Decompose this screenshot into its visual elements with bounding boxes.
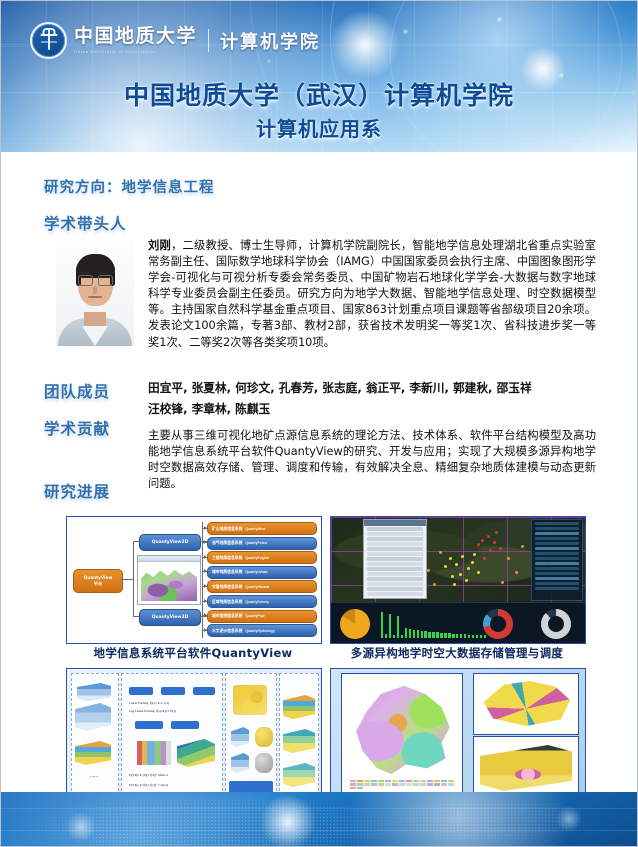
- legend-swatch: [357, 780, 363, 782]
- legend-swatch: [427, 780, 433, 782]
- map-marker: [495, 531, 498, 534]
- method-chip: [161, 687, 185, 695]
- bar: [480, 635, 482, 638]
- legend-swatch: [448, 783, 454, 785]
- diagram-root-node: QuantyView 平台: [73, 569, 123, 593]
- legend-swatch: [350, 787, 356, 789]
- bar: [428, 632, 430, 638]
- research-direction-label: 研究方向：地学信息工程: [44, 176, 215, 197]
- attr-row: [535, 522, 579, 525]
- header-dot: [498, 18, 501, 21]
- legend-swatch: [350, 783, 356, 785]
- bar: [436, 632, 438, 638]
- diagram-product-item: 区域地质信息系统QuantySurvey: [207, 595, 317, 608]
- poster-title: 中国地质大学（武汉）计算机学院: [0, 76, 638, 112]
- university-crest-icon: [30, 22, 67, 59]
- product-name-en: QuantyPipe: [245, 614, 264, 618]
- legend-swatch: [448, 780, 454, 782]
- leader-name: 刘刚: [148, 239, 171, 252]
- bar: [464, 634, 466, 638]
- map-marker: [465, 579, 468, 582]
- diagram-root-line2: 平台: [94, 581, 102, 587]
- figure-multiscale-glass-earth: [330, 668, 586, 805]
- legend-swatch: [434, 780, 440, 782]
- poster-subtitle: 计算机应用系: [0, 113, 638, 142]
- map-marker: [521, 545, 524, 548]
- university-logo: 中国地质大学 China University of Geosciences 计…: [30, 22, 320, 59]
- legend-swatch: [350, 780, 356, 782]
- diagram-product-item: 工程地质信息系统QuantyEngine: [207, 551, 317, 564]
- province-geological-map: [341, 673, 463, 801]
- fault-fan-model: [480, 680, 572, 728]
- attr-row: [535, 572, 579, 575]
- product-name-cn: 区域地质信息系统: [212, 599, 242, 605]
- header-dot: [404, 30, 407, 33]
- bar: [393, 635, 395, 638]
- panel-row: [367, 577, 423, 581]
- unit-model-right: [255, 753, 273, 773]
- bar: [440, 633, 442, 638]
- logo-divider: [208, 29, 209, 52]
- legend-swatch: [399, 783, 405, 785]
- map-marker: [459, 573, 462, 576]
- legend-swatch: [357, 787, 363, 789]
- gis-dashboard: [331, 517, 585, 643]
- panel-row: [367, 557, 423, 561]
- diagram-branch-2d: QuantyView2D: [139, 534, 201, 551]
- legend-swatch: [392, 783, 398, 785]
- product-name-cn: 工程地质信息系统: [212, 555, 242, 561]
- footer-glow: [66, 812, 96, 842]
- leader-biography: 刘刚，二级教授、博士生导师，计算机学院副院长，智能地学信息处理湖北省重点实验室常…: [148, 238, 596, 351]
- legend-swatch: [441, 780, 447, 782]
- panel-row: [367, 587, 423, 591]
- bar: [389, 614, 391, 638]
- gold-mesh-model: [233, 685, 267, 715]
- gis-statistics-bar: [331, 602, 585, 643]
- bar: [405, 628, 407, 638]
- bar: [468, 635, 470, 638]
- university-name-cn: 中国地质大学: [74, 27, 197, 46]
- diagram-spine: [202, 522, 203, 638]
- bar: [452, 634, 454, 638]
- leader-bio-text: ，二级教授、博士生导师，计算机学院副院长，智能地学信息处理湖北省重点实验室常务副…: [148, 239, 596, 349]
- legend-swatch: [420, 783, 426, 785]
- bar: [417, 630, 419, 638]
- poster-footer: [0, 792, 638, 847]
- bar: [424, 631, 426, 638]
- academic-contribution-label: 学术贡献: [44, 417, 110, 439]
- footer-glow: [556, 806, 582, 832]
- diagram-connector: [121, 579, 133, 580]
- map-marker: [461, 555, 464, 558]
- product-name-cn: 水文泥沙信息系统: [212, 628, 242, 634]
- map-marker: [455, 563, 458, 566]
- fault-block-model: [473, 673, 579, 735]
- bar: [476, 635, 478, 638]
- map-marker: [501, 581, 504, 584]
- product-name-cn: 油气地质信息系统: [212, 540, 242, 546]
- product-name-cn: 灾害地质信息系统: [212, 584, 242, 590]
- team-members-line-2: 汪校锋, 李章林, 陈麒玉: [148, 399, 598, 420]
- diagram-product-item: 油气地质信息系统QuantyPetrol: [207, 537, 317, 550]
- attr-row: [535, 557, 579, 560]
- academic-contribution-text: 主要从事三维可视化地矿点源信息系统的理论方法、技术体系、软件平台结构模型及高功能…: [148, 428, 596, 492]
- portrait-neck: [84, 312, 106, 326]
- bar: [472, 635, 474, 638]
- legend-swatch: [427, 783, 433, 785]
- panel-row: [367, 542, 423, 546]
- poster-header: 中国地质大学 China University of Geosciences 计…: [0, 0, 638, 152]
- product-name-en: QuantyPetrol: [245, 541, 267, 545]
- diagram-product-item: 城市地质信息系统QuantyUrban: [207, 566, 317, 579]
- poster-page: 中国地质大学 China University of Geosciences 计…: [0, 0, 638, 847]
- workflow-diagram: ······ Linear Pooling: f(x) = Σ w f (x) …: [67, 669, 321, 804]
- diagram-branch-3d: QuantyView3D: [139, 609, 201, 626]
- province-model-panel: [331, 669, 585, 804]
- bar: [421, 631, 423, 638]
- thumbnail-terrain-model: [141, 565, 197, 601]
- attr-row: [535, 552, 579, 555]
- panel-row: [367, 582, 423, 586]
- bar: [444, 633, 446, 638]
- 2d-probability-map: [137, 741, 171, 765]
- map-marker: [473, 553, 476, 556]
- stratum-block-model: [473, 736, 579, 800]
- school-name-cn: 计算机学院: [220, 28, 320, 54]
- bar: [385, 634, 387, 638]
- panel-row: [367, 547, 423, 551]
- panel-row: [367, 552, 423, 556]
- attr-row: [535, 562, 579, 565]
- product-name-en: QuantyHydrology: [245, 629, 274, 633]
- panel-header: [364, 520, 426, 526]
- map-marker: [471, 561, 474, 564]
- panel-row: [367, 527, 423, 531]
- bar: [432, 632, 434, 638]
- academic-leader-label: 学术带头人: [44, 212, 127, 234]
- product-name-en: QuantySurvey: [245, 600, 269, 604]
- portrait-nose: [93, 286, 97, 294]
- gis-layer-list-panel: [363, 519, 427, 599]
- figure-fine-geological-modeling: ······ Linear Pooling: f(x) = Σ w f (x) …: [66, 668, 322, 805]
- university-name-en: China University of Geosciences: [74, 49, 197, 54]
- figure-spatiotemporal-bigdata: [330, 516, 586, 644]
- map-marker: [449, 557, 452, 560]
- legend-swatch: [371, 780, 377, 782]
- attr-row: [535, 537, 579, 540]
- legend-swatch: [420, 780, 426, 782]
- portrait-eyebrows: [80, 272, 90, 274]
- diagram-product-item: 水文泥沙信息系统QuantyHydrology: [207, 624, 317, 637]
- panel-row: [367, 567, 423, 571]
- bar: [484, 635, 486, 638]
- diagram-3d-terrain-thumbnail: [137, 555, 201, 605]
- legend-swatch: [378, 783, 384, 785]
- method-chip: [193, 687, 215, 695]
- map-marker: [481, 539, 484, 542]
- attr-row: [535, 532, 579, 535]
- province-boundary-shape: [350, 682, 454, 780]
- product-name-cn: 城市地质信息系统: [212, 569, 242, 575]
- bar: [401, 635, 403, 638]
- legend-swatch: [385, 783, 391, 785]
- donut-chart-2: [541, 609, 571, 639]
- diagram-connector: [133, 541, 134, 617]
- legend-swatch: [441, 783, 447, 785]
- crest-top-shape: [42, 28, 55, 34]
- bar: [448, 633, 450, 638]
- portrait-mouth: [88, 296, 102, 298]
- map-marker: [515, 571, 518, 574]
- team-members-list: 田宜平, 张夏林, 何珍文, 孔春芳, 张志庭, 翁正平, 李新川, 郭建秋, …: [148, 378, 598, 420]
- team-members-line-1: 田宜平, 张夏林, 何珍文, 孔春芳, 张志庭, 翁正平, 李新川, 郭建秋, …: [148, 378, 598, 399]
- diagram-product-item: 城市管线信息系统QuantyPipe: [207, 610, 317, 623]
- map-marker: [477, 543, 480, 546]
- map-marker: [493, 541, 496, 544]
- legend-swatch: [364, 783, 370, 785]
- panel-row: [367, 592, 423, 596]
- map-marker: [453, 583, 456, 586]
- panel-row: [367, 532, 423, 536]
- stratum-slab-model: [480, 745, 572, 791]
- map-marker: [483, 557, 486, 560]
- map-marker: [489, 549, 492, 552]
- method-chip: [135, 721, 163, 729]
- bar: [397, 616, 399, 638]
- attr-row: [535, 577, 579, 580]
- product-name-en: QuantyUrban: [245, 570, 267, 574]
- bar-chart: [381, 608, 486, 638]
- footer-line: [0, 830, 638, 831]
- bar: [413, 630, 415, 638]
- diagram-product-item: 矿山地质信息系统QuantyMine: [207, 522, 317, 535]
- product-name-en: QuantyMine: [245, 527, 265, 531]
- map-marker: [487, 535, 490, 538]
- method-chip: [129, 687, 153, 695]
- product-name-en: QuantyHazard: [245, 585, 269, 589]
- product-name-cn: 矿山地质信息系统: [212, 526, 242, 532]
- donut-chart-1: [483, 609, 513, 639]
- pie-chart: [340, 609, 370, 639]
- research-progress-label: 研究进展: [44, 480, 110, 502]
- figure-quantyview-architecture: QuantyView 平台 QuantyView2D QuantyView3D …: [66, 516, 322, 644]
- panel-row: [367, 572, 423, 576]
- map-marker: [439, 551, 442, 554]
- diagram-product-item: 灾害地质信息系统QuantyHazard: [207, 580, 317, 593]
- footer-line: [0, 808, 638, 809]
- header-dot: [268, 60, 270, 62]
- gis-attribute-panel: [531, 519, 583, 601]
- bar: [456, 634, 458, 638]
- map-marker: [477, 571, 480, 574]
- legend-swatch: [385, 780, 391, 782]
- thumbnail-titlebar: [138, 556, 200, 562]
- leader-portrait-photo: [56, 240, 134, 346]
- map-marker: [507, 557, 510, 560]
- attr-row: [535, 587, 579, 590]
- university-name-group: 中国地质大学 China University of Geosciences: [74, 27, 197, 54]
- panel-row: [367, 562, 423, 566]
- map-marker: [467, 567, 470, 570]
- legend-swatch: [406, 783, 412, 785]
- unit-model-right: [255, 727, 273, 747]
- legend-swatch: [406, 780, 412, 782]
- legend-swatch: [357, 783, 363, 785]
- portrait-glasses-icon: [78, 275, 113, 285]
- team-members-label: 团队成员: [44, 380, 110, 402]
- legend-swatch: [378, 780, 384, 782]
- map-marker: [451, 575, 454, 578]
- attr-row: [535, 567, 579, 570]
- attr-row: [535, 542, 579, 545]
- map-marker: [433, 583, 436, 586]
- attr-row: [535, 547, 579, 550]
- legend-swatch: [371, 783, 377, 785]
- product-name-cn: 城市管线信息系统: [212, 613, 242, 619]
- map-marker: [444, 565, 447, 568]
- legend-swatch: [399, 780, 405, 782]
- map-marker: [499, 547, 502, 550]
- bar: [460, 634, 462, 638]
- bar: [381, 612, 383, 638]
- header-glow: [330, 10, 400, 80]
- legend-swatch: [413, 780, 419, 782]
- bar: [409, 629, 411, 638]
- figure-caption-2: 多源异构地学时空大数据存储管理与调度: [330, 645, 584, 661]
- legend-swatch: [434, 783, 440, 785]
- method-chip: [171, 721, 199, 729]
- legend-swatch: [364, 780, 370, 782]
- legend-swatch: [413, 783, 419, 785]
- figure-caption-1: 地学信息系统平台软件QuantyView: [66, 645, 320, 661]
- panel-row: [367, 537, 423, 541]
- attr-row: [535, 527, 579, 530]
- legend-swatch: [392, 780, 398, 782]
- product-name-en: QuantyEngine: [245, 556, 269, 560]
- attr-row: [535, 582, 579, 585]
- map-marker: [427, 569, 430, 572]
- footer-glow: [260, 794, 316, 847]
